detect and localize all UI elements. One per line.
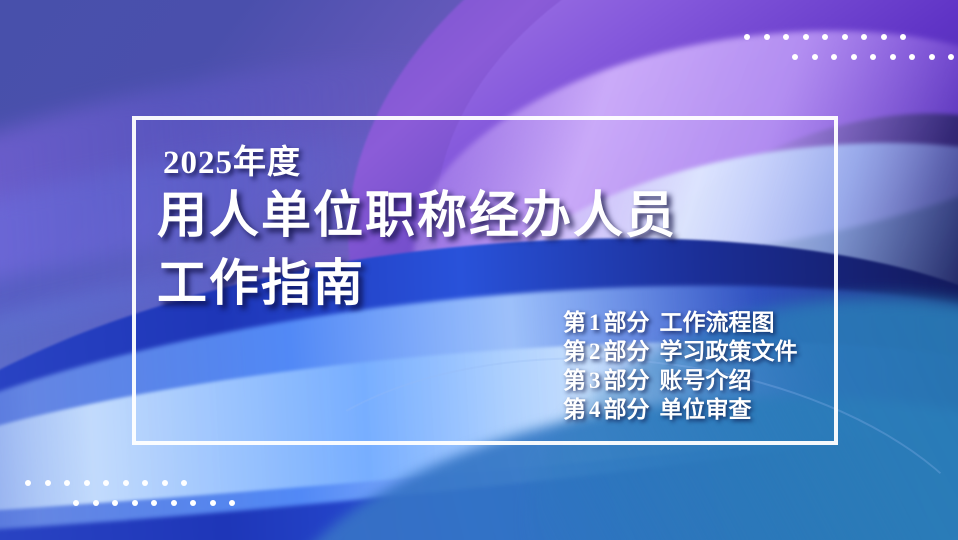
agenda-item-prefix: 第 (563, 397, 586, 422)
decorative-dot (900, 34, 906, 40)
agenda-item-prefix: 第 (563, 310, 586, 335)
decorative-dot (123, 480, 129, 486)
decorative-dot (229, 500, 235, 506)
decorative-dot (84, 480, 90, 486)
agenda-item-suffix: 部分 (604, 397, 650, 422)
decorative-dot (25, 480, 31, 486)
agenda-item-suffix: 部分 (604, 368, 650, 393)
decorative-dot (162, 480, 168, 486)
agenda-item[interactable]: 第2部分学习政策文件 (563, 337, 798, 366)
agenda-list: 第1部分工作流程图第2部分学习政策文件第3部分账号介绍第4部分单位审查 (563, 308, 798, 424)
agenda-item-prefix: 第 (563, 339, 586, 364)
agenda-item-number: 2 (589, 339, 601, 364)
agenda-item-prefix: 第 (563, 368, 586, 393)
decorative-dot (210, 500, 216, 506)
decorative-dot (151, 500, 157, 506)
decorative-dot (881, 34, 887, 40)
decorative-dot (812, 54, 818, 60)
agenda-item-number: 4 (589, 397, 601, 422)
agenda-item[interactable]: 第3部分账号介绍 (563, 366, 798, 395)
decorative-dot (929, 54, 935, 60)
agenda-item-topic: 学习政策文件 (660, 339, 798, 364)
decorative-dot (103, 480, 109, 486)
agenda-item-suffix: 部分 (604, 310, 650, 335)
decorative-dot (64, 480, 70, 486)
slide-title-line-2: 工作指南 (157, 254, 365, 312)
agenda-item-topic: 工作流程图 (660, 310, 775, 335)
agenda-item-suffix: 部分 (604, 339, 650, 364)
agenda-item[interactable]: 第1部分工作流程图 (563, 308, 798, 337)
decorative-dot (861, 34, 867, 40)
agenda-item-topic: 单位审查 (660, 397, 752, 422)
decorative-dot (73, 500, 79, 506)
decorative-dot (45, 480, 51, 486)
decorative-dot (93, 500, 99, 506)
decorative-dot (890, 54, 896, 60)
agenda-item-number: 1 (589, 310, 601, 335)
decorative-dot (171, 500, 177, 506)
agenda-item-topic: 账号介绍 (660, 368, 752, 393)
decorative-dot (783, 34, 789, 40)
decorative-dot (822, 34, 828, 40)
decorative-dot (142, 480, 148, 486)
decorative-dot (803, 34, 809, 40)
agenda-item-number: 3 (589, 368, 601, 393)
decorative-dot (831, 54, 837, 60)
decorative-dot (190, 500, 196, 506)
decorative-dot (792, 54, 798, 60)
decorative-dot (870, 54, 876, 60)
decorative-dot (909, 54, 915, 60)
decorative-dot (764, 34, 770, 40)
year-label: 2025年度 (163, 135, 301, 183)
decorative-dot (948, 54, 954, 60)
decorative-dot (744, 34, 750, 40)
agenda-item[interactable]: 第4部分单位审查 (563, 395, 798, 424)
decorative-dot (112, 500, 118, 506)
decorative-dot (851, 54, 857, 60)
presentation-slide: 2025年度 用人单位职称经办人员 工作指南 第1部分工作流程图第2部分学习政策… (0, 0, 958, 540)
decorative-dot (132, 500, 138, 506)
decorative-dot (842, 34, 848, 40)
decorative-dot (181, 480, 187, 486)
slide-title-line-1: 用人单位职称经办人员 (157, 186, 677, 244)
